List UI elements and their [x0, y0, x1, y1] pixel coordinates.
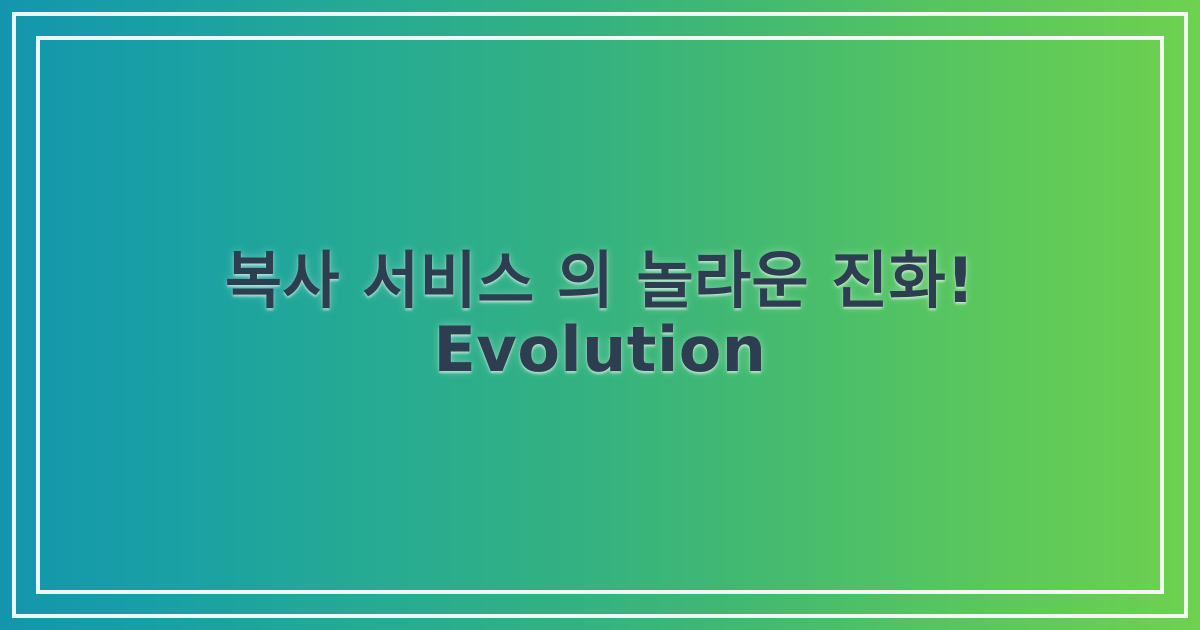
banner-content: 복사 서비스 의 놀라운 진화! Evolution: [0, 0, 1200, 630]
banner-card: 복사 서비스 의 놀라운 진화! Evolution: [0, 0, 1200, 630]
banner-headline: 복사 서비스 의 놀라운 진화! Evolution: [225, 246, 975, 385]
